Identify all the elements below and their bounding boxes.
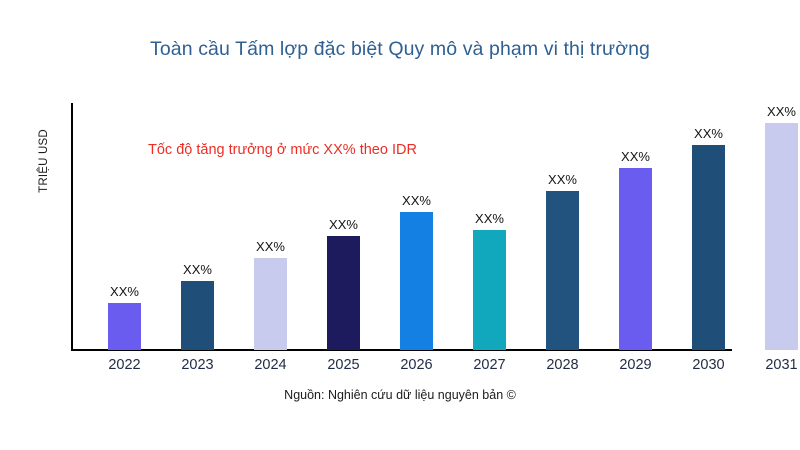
source-note: Nguồn: Nghiên cứu dữ liệu nguyên bản © (0, 388, 800, 402)
bar-2027[interactable] (473, 230, 506, 350)
x-tick-label-2023: 2023 (163, 357, 232, 373)
x-tick-label-2025: 2025 (309, 357, 378, 373)
chart-canvas: Toàn cầu Tấm lợp đặc biệt Quy mô và phạm… (0, 0, 800, 450)
bar-value-label-2028: XX% (528, 172, 597, 187)
bar-value-label-2023: XX% (163, 262, 232, 277)
x-tick-label-2026: 2026 (382, 357, 451, 373)
bar-group: XX% (400, 103, 433, 350)
page-title: Toàn cầu Tấm lợp đặc biệt Quy mô và phạm… (0, 38, 800, 61)
bar-value-label-2027: XX% (455, 211, 524, 226)
bar-2031[interactable] (765, 123, 798, 350)
bar-2025[interactable] (327, 236, 360, 350)
bar-group: XX% (546, 103, 579, 350)
bar-group: XX% (619, 103, 652, 350)
bar-group: XX% (254, 103, 287, 350)
bar-value-label-2025: XX% (309, 217, 378, 232)
bar-group: XX% (473, 103, 506, 350)
bar-2029[interactable] (619, 168, 652, 350)
x-tick-label-2024: 2024 (236, 357, 305, 373)
x-tick-label-2022: 2022 (90, 357, 159, 373)
bar-value-label-2029: XX% (601, 149, 670, 164)
bar-group: XX% (181, 103, 214, 350)
bar-value-label-2024: XX% (236, 239, 305, 254)
bar-value-label-2031: XX% (747, 104, 800, 119)
bar-value-label-2030: XX% (674, 126, 743, 141)
x-tick-label-2030: 2030 (674, 357, 743, 373)
plot-area: XX%XX%XX%XX%XX%XX%XX%XX%XX%XX% (71, 103, 731, 350)
bar-2028[interactable] (546, 191, 579, 350)
bar-2023[interactable] (181, 281, 214, 350)
bar-2022[interactable] (108, 303, 141, 350)
x-tick-label-2028: 2028 (528, 357, 597, 373)
y-axis-title: TRIỆU USD (38, 106, 58, 216)
bar-value-label-2026: XX% (382, 193, 451, 208)
x-tick-label-2027: 2027 (455, 357, 524, 373)
bar-value-label-2022: XX% (90, 284, 159, 299)
x-tick-label-2031: 2031 (747, 357, 800, 373)
bar-group: XX% (327, 103, 360, 350)
bar-group: XX% (692, 103, 725, 350)
bar-2024[interactable] (254, 258, 287, 350)
bar-2030[interactable] (692, 145, 725, 350)
x-tick-label-2029: 2029 (601, 357, 670, 373)
bar-group: XX% (765, 103, 798, 350)
bar-2026[interactable] (400, 212, 433, 350)
bar-group: XX% (108, 103, 141, 350)
